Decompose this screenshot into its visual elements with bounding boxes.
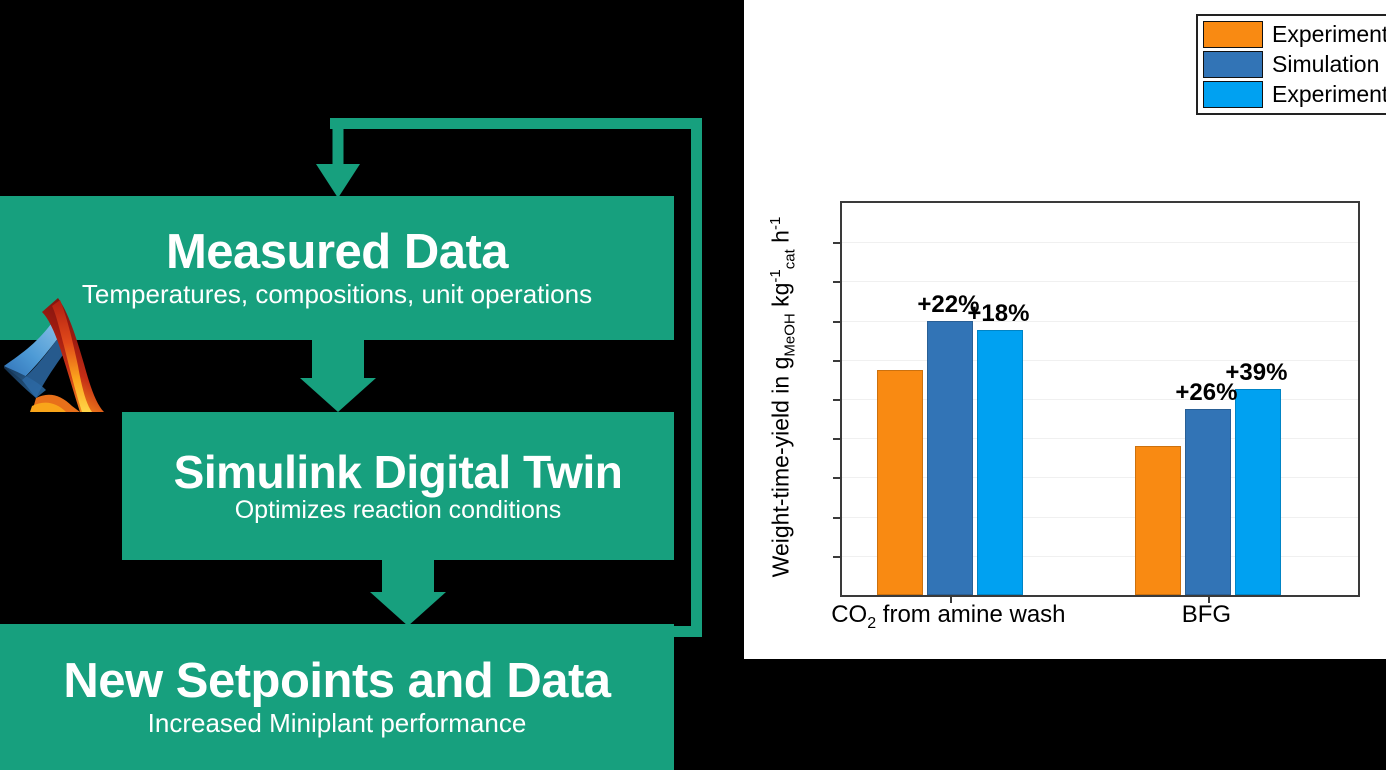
legend-label: Experiment	[1272, 23, 1386, 46]
bar[interactable]	[1185, 409, 1231, 595]
legend-item[interactable]: Simulation (optimized)	[1203, 49, 1386, 79]
chart-panel: Experiment Simulation (optimized) Experi…	[744, 0, 1386, 659]
bar[interactable]	[1135, 446, 1181, 595]
y-axis-label: Weight-time-yield in gMeOH kg-1cat h-1	[768, 197, 797, 597]
arrow-measured-to-simulink	[260, 340, 416, 412]
y-axis-tick	[833, 281, 842, 283]
grid-line	[842, 281, 1358, 282]
flow-box-title: New Setpoints and Data	[63, 657, 610, 706]
flow-box-title: Simulink Digital Twin	[174, 449, 623, 495]
flow-box-new-setpoints[interactable]: New Setpoints and Data Increased Minipla…	[0, 624, 674, 770]
bar[interactable]	[927, 321, 973, 595]
feedback-loop-top	[330, 118, 702, 129]
feedback-loop-right	[691, 118, 702, 633]
bar[interactable]	[877, 370, 923, 595]
legend-item[interactable]: Experiment	[1203, 19, 1386, 49]
y-axis-label-sup-2: -1	[767, 217, 784, 230]
legend-label: Simulation (optimized)	[1272, 53, 1386, 76]
y-axis-label-sup-1: -1	[767, 269, 784, 282]
y-axis-label-sub-cat: cat	[781, 249, 798, 269]
flow-box-subtitle: Increased Miniplant performance	[148, 710, 527, 737]
legend-swatch-experiment-optimized	[1203, 81, 1263, 108]
figure-root: Measured Data Temperatures, compositions…	[0, 0, 1386, 659]
y-axis-tick	[833, 556, 842, 558]
plot-area: +22%+18%+26%+39%	[840, 201, 1360, 597]
y-axis-label-sub-meoh: MeOH	[781, 313, 798, 356]
legend-box: Experiment Simulation (optimized) Experi…	[1196, 14, 1386, 115]
y-axis-tick	[833, 360, 842, 362]
flow-box-simulink-digital-twin[interactable]: Simulink Digital Twin Optimizes reaction…	[122, 412, 674, 560]
bar-annotation: +18%	[967, 300, 1029, 328]
flowchart-panel: Measured Data Temperatures, compositions…	[0, 0, 740, 659]
y-axis-tick	[833, 399, 842, 401]
y-axis-label-tail: h	[768, 230, 794, 249]
legend-item[interactable]: Experiment (optimized)	[1203, 79, 1386, 109]
bar[interactable]	[1235, 389, 1281, 595]
y-axis-tick	[833, 242, 842, 244]
legend-label: Experiment (optimized)	[1272, 83, 1386, 106]
flow-box-subtitle: Optimizes reaction conditions	[235, 497, 562, 523]
flow-box-subtitle: Temperatures, compositions, unit operati…	[82, 281, 592, 308]
matlab-membrane-logo	[2, 294, 114, 416]
bar-annotation: +39%	[1225, 359, 1287, 387]
y-axis-label-mid: kg	[768, 283, 794, 314]
x-axis-category-label: CO2 from amine wash	[831, 601, 1065, 633]
bar[interactable]	[977, 330, 1023, 595]
y-axis-tick	[833, 438, 842, 440]
x-axis-category-label: BFG	[1182, 601, 1231, 629]
y-axis-label-lead: Weight-time-yield in g	[768, 357, 794, 578]
y-axis-tick	[833, 477, 842, 479]
grid-line	[842, 321, 1358, 322]
legend-swatch-experiment	[1203, 21, 1263, 48]
grid-line	[842, 242, 1358, 243]
flow-box-title: Measured Data	[166, 228, 508, 277]
arrow-loop-to-measured	[300, 118, 376, 198]
y-axis-tick	[833, 517, 842, 519]
y-axis-tick	[833, 321, 842, 323]
arrow-simulink-to-setpoints	[330, 560, 486, 626]
legend-swatch-simulation-optimized	[1203, 51, 1263, 78]
